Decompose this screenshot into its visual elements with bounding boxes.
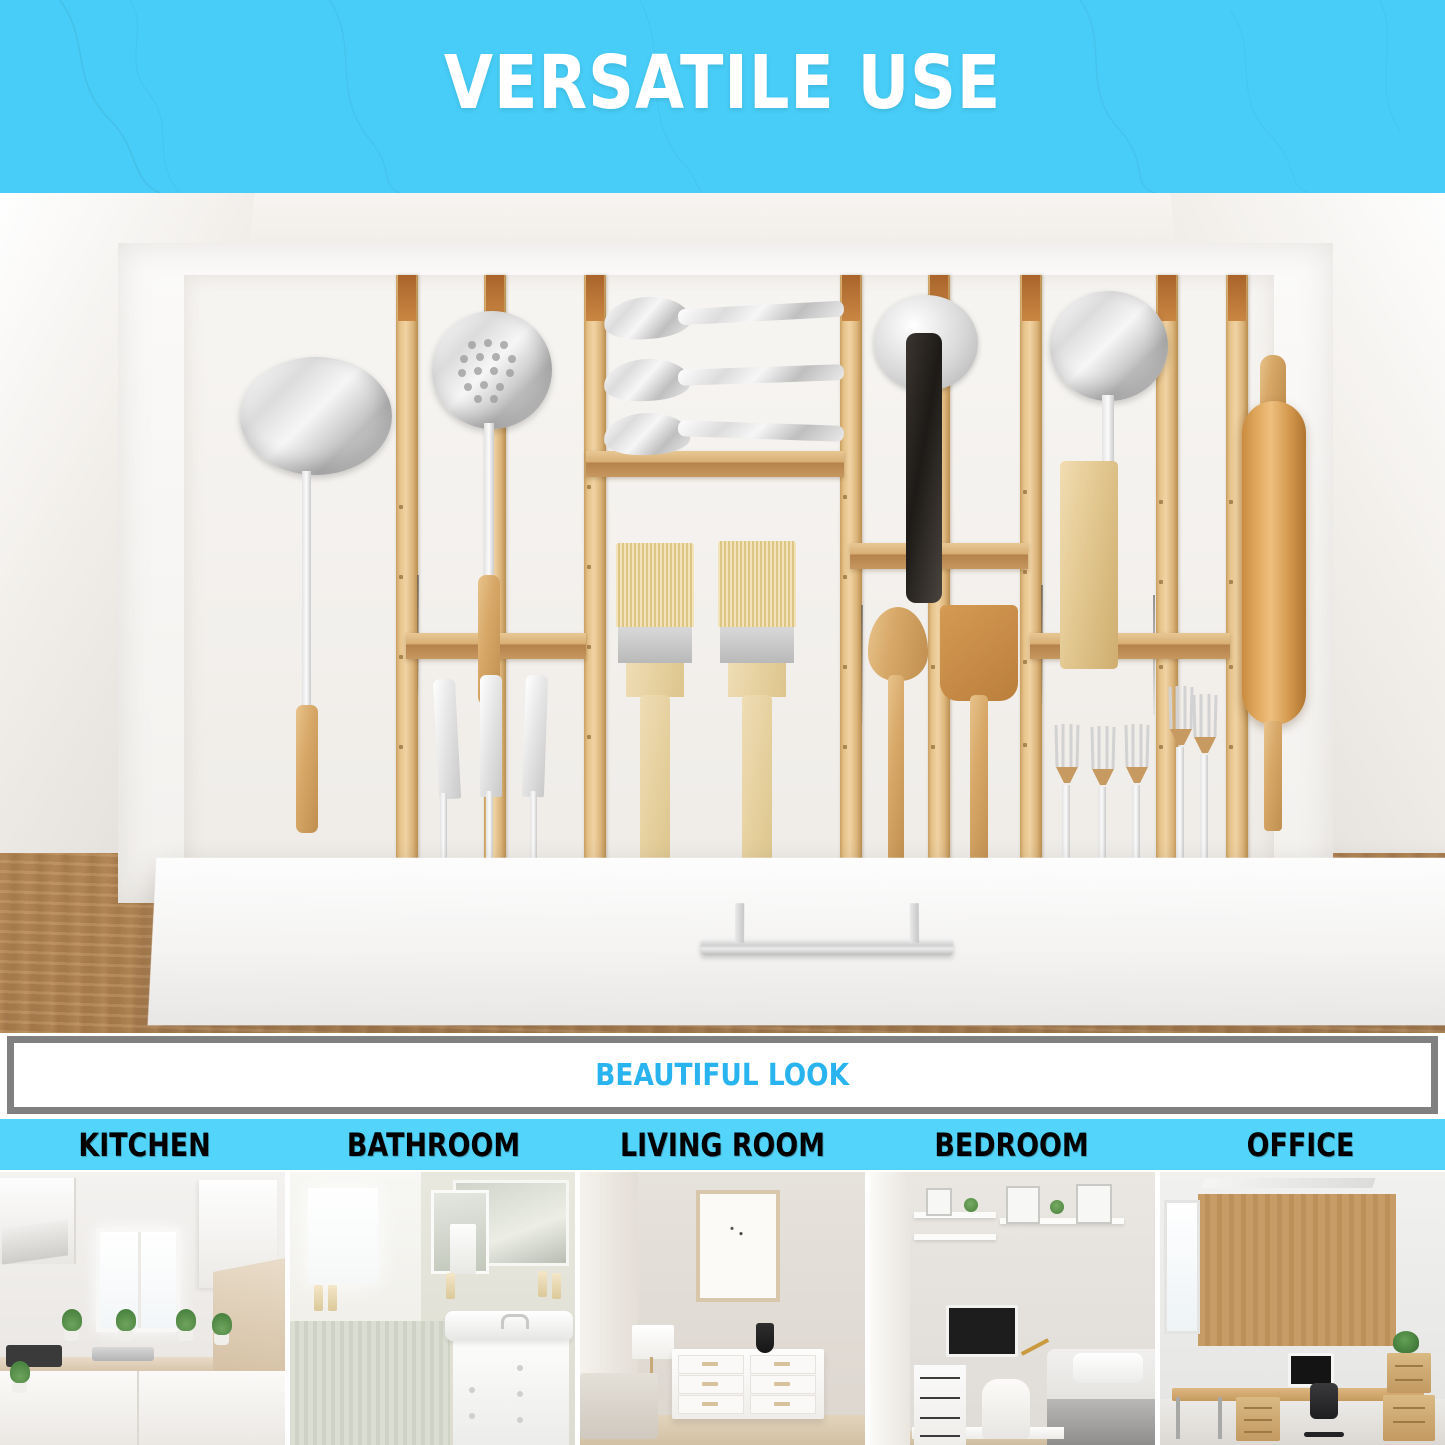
pastry-brush-neck <box>626 663 684 697</box>
bamboo-divider <box>1020 275 1042 877</box>
office-cabinet <box>1383 1395 1435 1441</box>
pastry-brush-handle <box>742 695 772 871</box>
fork-handle <box>1176 747 1184 871</box>
beautiful-look-label: BEAUTIFUL LOOK <box>596 1058 850 1093</box>
wooden-spoon-head <box>868 607 928 681</box>
butter-knife <box>433 679 461 800</box>
stainless-skimmer-head <box>432 311 552 429</box>
fork <box>1052 723 1082 789</box>
pastry-brush-bristles <box>718 541 796 627</box>
skimmer-handle <box>484 423 494 587</box>
skimmer-holes <box>432 311 552 429</box>
pastry-brush-neck <box>728 663 786 697</box>
office-drawer-unit <box>1236 1397 1280 1441</box>
wooden-spatula-blade <box>940 605 1018 701</box>
room-photo-office <box>1160 1172 1445 1445</box>
drawer-handle[interactable] <box>701 939 953 955</box>
fork <box>1122 723 1152 789</box>
hero-product-photo <box>0 193 1445 1033</box>
wooden-muddler <box>1060 461 1118 669</box>
spoon-head <box>603 412 690 457</box>
room-label-kitchen: KITCHEN <box>23 1126 266 1164</box>
handle-post-left <box>735 903 744 943</box>
room-photo-bathroom <box>290 1172 575 1445</box>
spoon-handle <box>678 364 844 386</box>
pizza-cutter-handle <box>906 333 942 603</box>
fork-tines <box>1122 723 1152 789</box>
fork-tines <box>1088 725 1118 791</box>
fork <box>1190 693 1220 759</box>
drawer-front-panel[interactable] <box>148 858 1445 1026</box>
butter-knife <box>522 675 548 798</box>
room-label-living-room: LIVING ROOM <box>601 1126 844 1164</box>
room-photo-kitchen <box>0 1172 285 1445</box>
pastry-brush-ferrule <box>618 627 692 663</box>
room-label-band: KITCHEN BATHROOM LIVING ROOM BEDROOM OFF… <box>0 1119 1445 1170</box>
spoon-handle <box>678 301 845 326</box>
fork <box>1088 725 1118 791</box>
pastry-brush-handle <box>640 695 670 871</box>
header-banner: VERSATILE USE <box>0 0 1445 193</box>
product-infographic: VERSATILE USE <box>0 0 1445 1445</box>
room-label-bathroom: BATHROOM <box>312 1126 555 1164</box>
pastry-brush-bristles <box>616 543 694 627</box>
spoon-handle <box>678 420 844 442</box>
beautiful-look-box: BEAUTIFUL LOOK <box>7 1036 1438 1114</box>
bamboo-divider <box>584 275 606 877</box>
rolling-pin-handle <box>1264 721 1282 831</box>
bamboo-divider <box>396 275 418 877</box>
bamboo-divider <box>840 275 862 877</box>
stainless-ladle-handle <box>302 471 311 715</box>
room-photo-strip <box>0 1172 1445 1445</box>
room-label-bedroom: BEDROOM <box>890 1126 1133 1164</box>
fork-tines <box>1190 693 1220 759</box>
wooden-spoon-handle <box>888 675 904 871</box>
pastry-brush-ferrule <box>720 627 794 663</box>
drawer-box <box>118 243 1333 903</box>
office-cabinet-upper <box>1387 1353 1431 1393</box>
fork-handle <box>1200 755 1208 871</box>
stainless-ladle-bowl <box>240 357 392 475</box>
handle-post-right <box>910 903 919 943</box>
stainless-ladle-bowl <box>1050 291 1168 401</box>
room-photo-bedroom <box>870 1172 1155 1445</box>
ladle-wood-grip <box>296 705 318 833</box>
room-photo-living-room <box>580 1172 865 1445</box>
page-title: VERSATILE USE <box>101 46 1344 120</box>
drawer-interior <box>184 275 1274 877</box>
butter-knife <box>480 675 502 797</box>
rolling-pin-knob <box>1260 355 1286 407</box>
rolling-pin-body <box>1242 401 1306 725</box>
room-label-office: OFFICE <box>1179 1126 1422 1164</box>
fork-tines <box>1052 723 1082 789</box>
bamboo-cross-piece <box>586 451 844 477</box>
wooden-spatula-handle <box>970 695 988 871</box>
